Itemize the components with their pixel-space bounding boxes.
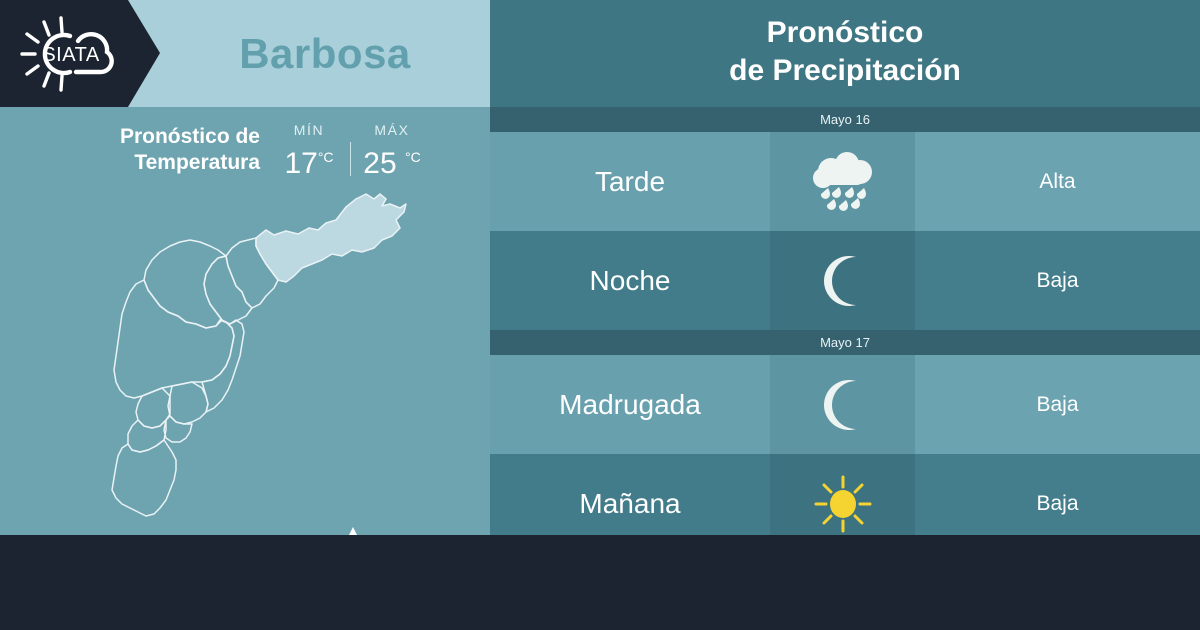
map-region-medellin[interactable] — [114, 280, 234, 398]
map-region-bello[interactable] — [144, 240, 226, 328]
forecast-probability-cell: Baja — [915, 231, 1200, 330]
siata-logo-text: SIATA — [42, 44, 99, 66]
sun-cloud-icon: SIATA — [14, 14, 130, 94]
map-region-envigado[interactable] — [168, 382, 208, 424]
moon-icon — [816, 377, 870, 433]
period-label: Mañana — [579, 488, 680, 520]
footer: @siatamedellin www.siata.gov.co Con el a… — [0, 535, 1200, 630]
city-header: SIATA Barbosa — [0, 0, 490, 107]
precipitation-title-line1: Pronóstico — [490, 14, 1200, 52]
period-label: Madrugada — [559, 389, 701, 421]
temperature-title-line1: Pronóstico de — [70, 124, 260, 150]
forecast-table: Mayo 16 Tarde — [490, 107, 1200, 553]
map-region-sabaneta[interactable] — [164, 416, 192, 442]
precipitation-title-line2: de Precipitación — [490, 52, 1200, 90]
table-row[interactable]: Tarde — [490, 132, 1200, 231]
temperature-title-line2: Temperatura — [70, 150, 260, 176]
temperature-min-unit: °C — [318, 149, 334, 165]
city-title: Barbosa — [160, 0, 490, 107]
temperature-min-label: MÍN — [294, 122, 324, 138]
map-region-caldas[interactable] — [112, 440, 176, 516]
forecast-period-cell: Noche — [490, 231, 770, 330]
date-band: Mayo 16 — [490, 107, 1200, 132]
precipitation-title: Pronóstico de Precipitación — [490, 14, 1200, 90]
forecast-period-cell: Tarde — [490, 132, 770, 231]
map-region-east-strip[interactable] — [202, 320, 244, 412]
temperature-max-unit: °C — [405, 149, 421, 165]
period-label: Noche — [590, 265, 671, 297]
forecast-icon-cell — [770, 355, 915, 454]
forecast-icon-cell — [770, 132, 915, 231]
temperature-title: Pronóstico de Temperatura — [70, 122, 260, 176]
moon-icon — [816, 253, 870, 309]
weather-forecast-card: SIATA Barbosa Pronóstico de Temperatura … — [0, 0, 1200, 630]
map-svg — [60, 190, 440, 530]
temperature-max-value: 25 °C — [363, 140, 420, 181]
period-label: Tarde — [595, 166, 665, 198]
forecast-icon-cell — [770, 231, 915, 330]
date-band: Mayo 17 — [490, 330, 1200, 355]
map-region-barbosa[interactable] — [256, 194, 406, 282]
forecast-probability-cell: Baja — [915, 355, 1200, 454]
probability-label: Baja — [1036, 393, 1078, 417]
map-region-la-estrella[interactable] — [128, 420, 166, 452]
probability-label: Alta — [1039, 170, 1075, 194]
table-row[interactable]: Noche Baja — [490, 231, 1200, 330]
temperature-max: MÁX 25 °C — [357, 122, 427, 181]
probability-label: Baja — [1036, 492, 1078, 516]
precipitation-panel: Pronóstico de Precipitación Mayo 16 Tard… — [490, 0, 1200, 535]
table-row[interactable]: Madrugada Baja — [490, 355, 1200, 454]
probability-label: Baja — [1036, 269, 1078, 293]
rain-cloud-icon — [807, 151, 879, 213]
temperature-divider — [350, 142, 351, 176]
temperature-max-label: MÁX — [374, 122, 409, 138]
temperature-summary: Pronóstico de Temperatura MÍN 17°C MÁX 2… — [70, 122, 430, 184]
sun-icon — [812, 473, 874, 535]
temperature-panel: SIATA Barbosa Pronóstico de Temperatura … — [0, 0, 490, 535]
forecast-probability-cell: Alta — [915, 132, 1200, 231]
temperature-values: MÍN 17°C MÁX 25 °C — [274, 122, 427, 181]
siata-logo-flag: SIATA — [0, 0, 160, 107]
forecast-period-cell: Madrugada — [490, 355, 770, 454]
temperature-min-value: 17°C — [284, 140, 333, 181]
temperature-min: MÍN 17°C — [274, 122, 344, 181]
aburra-valley-map: N — [60, 190, 440, 530]
